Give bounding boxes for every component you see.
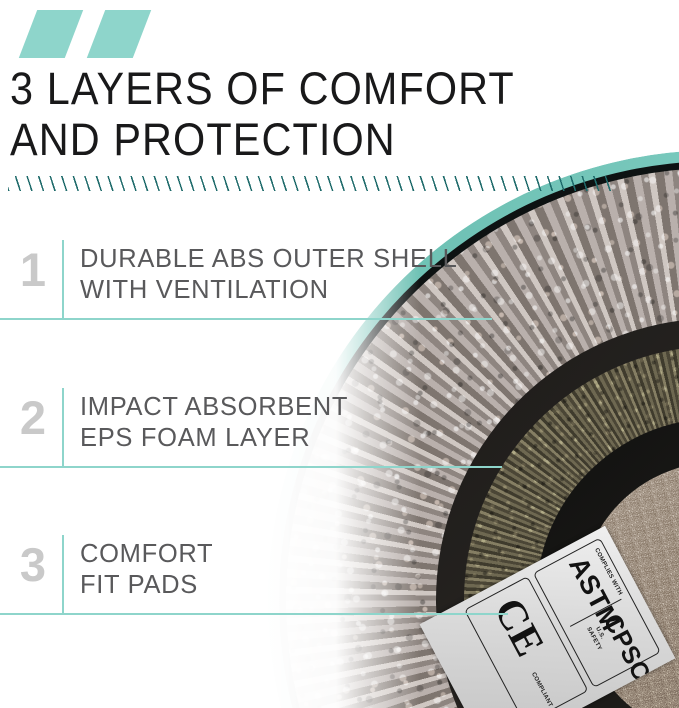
infographic-page: COMPLIES WITH ASTM CPSC U.S. SAFETY CE C…	[0, 0, 679, 708]
layer-item-1: 1 DURABLE ABS OUTER SHELL WITH VENTILATI…	[0, 240, 679, 324]
layer-number-3: 3	[12, 537, 54, 593]
content-layer: 3 LAYERS OF COMFORT AND PROTECTION 1 DUR…	[0, 0, 679, 708]
layer-item-3: 3 COMFORT FIT PADS	[0, 535, 679, 619]
layer-label-1: DURABLE ABS OUTER SHELL WITH VENTILATION	[80, 244, 550, 306]
layer-number-2: 2	[12, 390, 54, 446]
layer-label-3: COMFORT FIT PADS	[80, 539, 550, 601]
layer-vertical-rule-2	[62, 388, 64, 466]
layer-vertical-rule-3	[62, 535, 64, 613]
double-slash-accent-icon	[14, 10, 174, 58]
layer-vertical-rule-1	[62, 240, 64, 318]
layer-underline-1	[0, 318, 492, 320]
layer-label-2: IMPACT ABSORBENT EPS FOAM LAYER	[80, 392, 550, 454]
layer-underline-3	[0, 613, 508, 615]
slash-shape-right	[87, 10, 151, 58]
slash-shape-left	[19, 10, 83, 58]
layer-item-2: 2 IMPACT ABSORBENT EPS FOAM LAYER	[0, 388, 679, 472]
layer-number-1: 1	[12, 242, 54, 298]
page-title: 3 LAYERS OF COMFORT AND PROTECTION	[10, 63, 599, 165]
hatched-rule-divider	[8, 176, 612, 191]
layer-underline-2	[0, 466, 502, 468]
